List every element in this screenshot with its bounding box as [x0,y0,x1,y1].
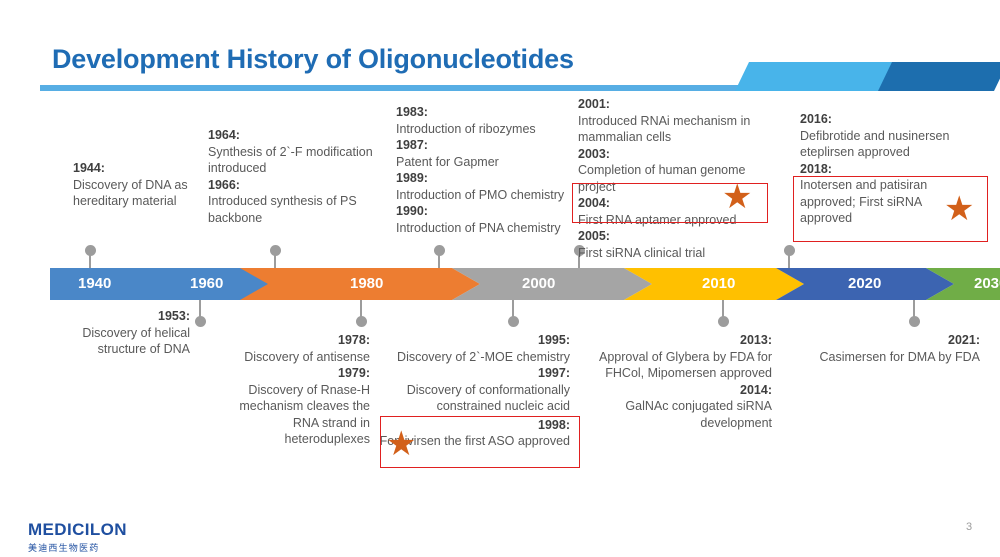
event-year: 2013: [740,333,772,347]
timeline-tick-2000: 2000 [522,275,555,292]
timeline-tick-1940: 1940 [78,275,111,292]
timeline-pin-1978 [360,300,362,322]
timeline-pin-1995 [512,300,514,322]
star-icon-1998: ★ [386,427,416,461]
event-text: Discovery of DNA as hereditary material [73,177,193,210]
event-year: 2014: [740,383,772,397]
event-year: 1978: [338,333,370,347]
event-text: Discovery of conformationally constraine… [376,382,570,415]
timeline-segment-1980s: 1980 [240,268,480,300]
timeline-pin-dot [356,316,367,327]
timeline-tick-2010: 2010 [702,275,735,292]
header-chevron-dark-decoration [878,62,1000,91]
event-year: 1964: [208,128,240,142]
event-block-1953: 1953: Discovery of helical structure of … [58,308,190,358]
timeline-pin-1944 [89,250,91,268]
timeline-pin-2013 [722,300,724,322]
event-text: Defibrotide and nusinersen eteplirsen ap… [800,128,960,161]
event-text: Introduction of PNA chemistry [396,220,581,237]
timeline-arrow-bar: 1940 1960 1980 2000 2010 2020 2030 [50,268,960,300]
timeline-segment-2000s: 2000 [452,268,652,300]
event-year: 2003: [578,147,610,161]
event-text: GalNAc conjugated siRNA development [582,398,772,431]
event-year: 1953: [158,309,190,323]
event-year: 2005: [578,229,610,243]
event-text: Discovery of Rnase-H mechanism cleaves t… [218,382,370,448]
page-number: 3 [966,521,972,533]
event-text: Introduction of ribozymes [396,121,581,138]
page-title: Development History of Oligonucleotides [52,44,574,75]
header-chevron-light-decoration [735,62,905,91]
event-year: 1987: [396,138,428,152]
timeline-tick-2030: 2030 [974,275,1000,292]
event-text: Casimersen for DMA by FDA [808,349,980,366]
timeline-pin-2021 [913,300,915,322]
event-text: Discovery of helical structure of DNA [58,325,190,358]
event-year: 2016: [800,112,832,126]
logo-wordmark: MEDICILON [28,520,127,540]
event-text: Synthesis of 2`-F modification introduce… [208,144,398,177]
timeline-pin-dot [85,245,96,256]
timeline-pin-1983 [438,250,440,268]
timeline-tick-2020: 2020 [848,275,881,292]
event-block-2013: 2013: Approval of Glybera by FDA for FHC… [582,332,772,431]
timeline-pin-dot [718,316,729,327]
event-year: 2018: [800,162,832,176]
event-year: 1983: [396,105,428,119]
event-text: Introduced synthesis of PS backbone [208,193,398,226]
event-year: 2001: [578,97,610,111]
event-text: Introduced RNAi mechanism in mammalian c… [578,113,774,146]
star-icon-2018: ★ [944,192,974,226]
event-year: 1989: [396,171,428,185]
event-text: Discovery of antisense [218,349,370,366]
event-text: Introduction of PMO chemistry [396,187,581,204]
event-year: 1966: [208,178,240,192]
event-block-2021: 2021: Casimersen for DMA by FDA [808,332,980,365]
event-text: Approval of Glybera by FDA for FHCol, Mi… [582,349,772,382]
logo-subtitle-chinese: 美迪西生物医药 [28,541,127,554]
timeline-pin-dot [270,245,281,256]
timeline-pin-dot [784,245,795,256]
event-block-1978: 1978: Discovery of antisense 1979: Disco… [218,332,370,448]
event-block-1964: 1964: Synthesis of 2`-F modification int… [208,127,398,226]
timeline-pin-1964 [274,250,276,268]
event-year: 1990: [396,204,428,218]
event-text: Discovery of 2`-MOE chemistry [376,349,570,366]
timeline-pin-dot [195,316,206,327]
event-text: First siRNA clinical trial [578,245,774,262]
event-year: 2021: [948,333,980,347]
timeline-pin-1953 [199,300,201,322]
event-year: 1944: [73,161,105,175]
timeline-tick-1960: 1960 [190,275,223,292]
timeline-pin-2016 [788,250,790,268]
timeline-pin-dot [434,245,445,256]
medicilon-logo: MEDICILON 美迪西生物医药 [28,520,127,554]
event-year: 1997: [538,366,570,380]
star-icon-2004: ★ [722,180,752,214]
timeline-tick-1980: 1980 [350,275,383,292]
event-block-1983: 1983: Introduction of ribozymes 1987: Pa… [396,104,581,236]
title-underline-rule [40,85,770,91]
event-block-1944: 1944: Discovery of DNA as hereditary mat… [73,160,193,210]
event-year: 1979: [338,366,370,380]
timeline-pin-dot [909,316,920,327]
event-year: 1995: [538,333,570,347]
event-text: Patent for Gapmer [396,154,581,171]
timeline-pin-dot [508,316,519,327]
